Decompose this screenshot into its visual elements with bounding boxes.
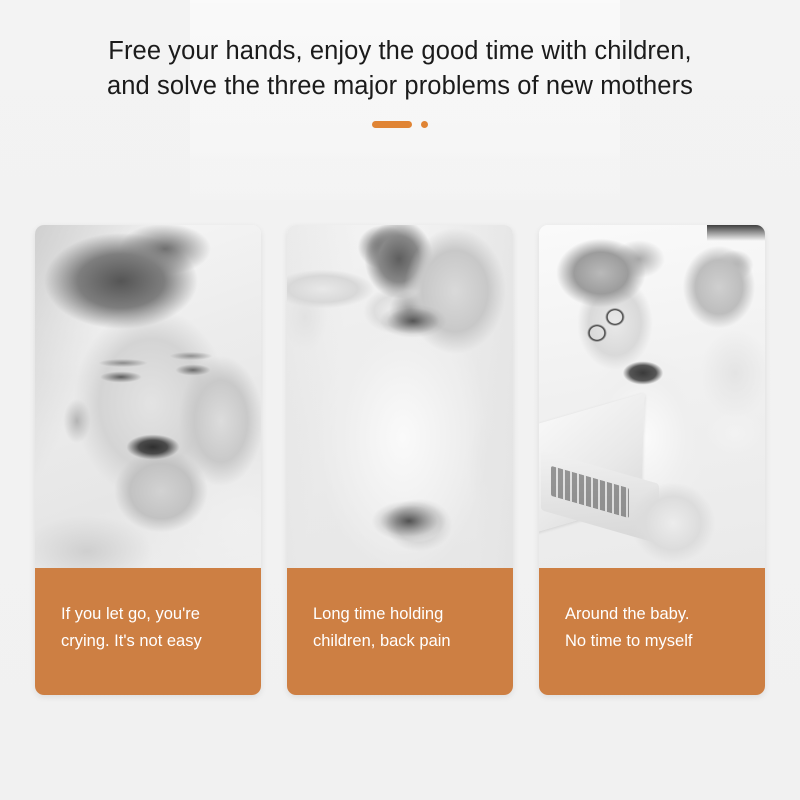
problem-card-1[interactable]: If you let go, you're crying. It's not e… xyxy=(35,225,261,695)
problem-card-1-caption: If you let go, you're crying. It's not e… xyxy=(35,568,261,695)
card-2-caption-line-2: children, back pain xyxy=(313,628,491,655)
problem-card-2-caption: Long time holding children, back pain xyxy=(287,568,513,695)
divider-bar-icon xyxy=(372,121,412,128)
card-1-caption-line-2: crying. It's not easy xyxy=(61,628,239,655)
crying-baby-photo xyxy=(35,225,261,568)
headline-line-1: Free your hands, enjoy the good time wit… xyxy=(0,34,800,69)
headline-line-2: and solve the three major problems of ne… xyxy=(0,69,800,104)
card-3-caption-line-1: Around the baby. xyxy=(565,601,743,628)
card-3-caption-line-2: No time to myself xyxy=(565,628,743,655)
problem-card-3[interactable]: Around the baby. No time to myself xyxy=(539,225,765,695)
divider-dot-icon xyxy=(421,121,428,128)
page-headline: Free your hands, enjoy the good time wit… xyxy=(0,34,800,104)
photo-dark-corner xyxy=(707,225,765,241)
pain-hotspot-overlay xyxy=(287,225,513,568)
problem-cards-row: If you let go, you're crying. It's not e… xyxy=(35,225,765,695)
background-highlight-band xyxy=(190,0,620,210)
card-1-caption-line-1: If you let go, you're xyxy=(61,601,239,628)
woman-back-pain-photo xyxy=(287,225,513,568)
problem-card-2[interactable]: Long time holding children, back pain xyxy=(287,225,513,695)
problem-card-3-caption: Around the baby. No time to myself xyxy=(539,568,765,695)
mother-working-with-baby-photo xyxy=(539,225,765,568)
mother-arm-shape xyxy=(625,477,721,568)
card-2-caption-line-1: Long time holding xyxy=(313,601,491,628)
section-divider xyxy=(0,121,800,128)
